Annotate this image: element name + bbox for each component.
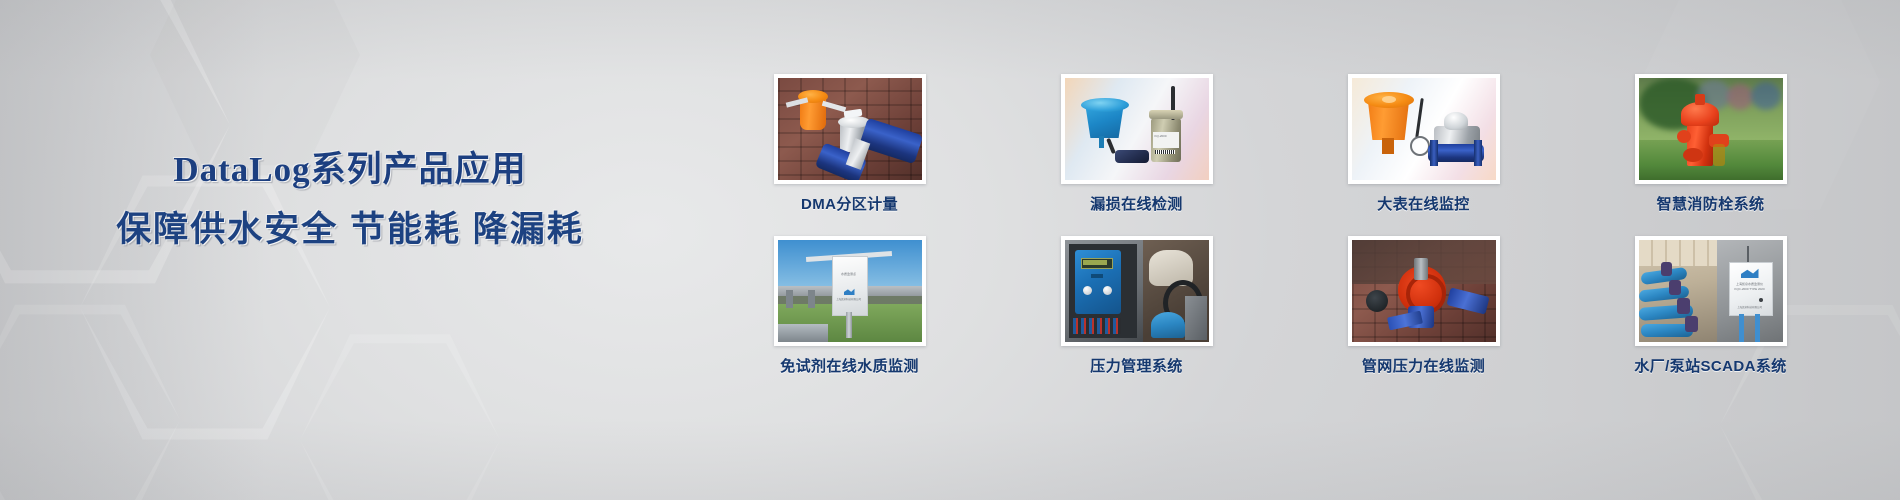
product-card-smart-hydrant[interactable]: 智慧消防栓系统 xyxy=(1567,74,1854,214)
product-card-frame: 水质监测点 上海凯泉科技有限公司 xyxy=(774,236,926,346)
headline-line-1: DataLog系列产品应用 xyxy=(0,148,700,192)
product-caption: DMA分区计量 xyxy=(801,193,898,214)
product-card-dma-metering[interactable]: DMA分区计量 xyxy=(706,74,993,214)
smart-hydrant-photo xyxy=(1639,78,1783,180)
hexagon-icon xyxy=(150,0,360,170)
product-card-frame xyxy=(1061,236,1213,346)
product-caption: 大表在线监控 xyxy=(1377,193,1469,214)
water-quality-monitor-photo: 水质监测点 上海凯泉科技有限公司 xyxy=(778,240,922,342)
pressure-management-photo xyxy=(1065,240,1209,342)
headline-block: DataLog系列产品应用 保障供水安全 节能耗 降漏耗 xyxy=(0,148,700,252)
hexagon-icon xyxy=(0,300,180,500)
hexagon-icon xyxy=(300,330,500,500)
sign-company: 上海凯泉科技有限公司 xyxy=(834,298,864,302)
scada-system-photo: 上海凯泉水质监测仪 KQC-2000 TYPE 2020 上海凯泉科技有限公司 xyxy=(1639,240,1783,342)
scada-box-company: 上海凯泉科技有限公司 xyxy=(1731,306,1769,310)
product-caption: 免试剂在线水质监测 xyxy=(780,355,919,376)
product-caption: 智慧消防栓系统 xyxy=(1657,193,1765,214)
product-caption: 管网压力在线监测 xyxy=(1362,355,1485,376)
scada-box-label-2: KQC-2000 TYPE 2020 xyxy=(1731,287,1769,291)
leak-detection-photo: KQ-2000 xyxy=(1065,78,1209,180)
product-caption: 水厂/泵站SCADA系统 xyxy=(1634,355,1786,376)
product-card-frame: KQ-2000 xyxy=(1061,74,1213,184)
product-card-frame xyxy=(1348,236,1500,346)
sign-title: 水质监测点 xyxy=(836,272,862,276)
scada-box-label-1: 上海凯泉水质监测仪 xyxy=(1731,282,1769,286)
product-card-pressure-management[interactable]: 压力管理系统 xyxy=(993,236,1280,376)
dma-metering-photo xyxy=(778,78,922,180)
product-card-frame xyxy=(774,74,926,184)
large-meter-monitoring-photo xyxy=(1352,78,1496,180)
product-card-frame xyxy=(1348,74,1500,184)
product-caption: 漏损在线检测 xyxy=(1090,193,1182,214)
product-card-frame xyxy=(1635,74,1787,184)
product-card-leak-detection[interactable]: KQ-2000 漏损在线检测 xyxy=(993,74,1280,214)
product-card-frame: 上海凯泉水质监测仪 KQC-2000 TYPE 2020 上海凯泉科技有限公司 xyxy=(1635,236,1787,346)
product-card-scada-system[interactable]: 上海凯泉水质监测仪 KQC-2000 TYPE 2020 上海凯泉科技有限公司 … xyxy=(1567,236,1854,376)
product-card-pipe-pressure-monitoring[interactable]: 管网压力在线监测 xyxy=(1280,236,1567,376)
headline-line-2: 保障供水安全 节能耗 降漏耗 xyxy=(0,208,700,252)
banner-root: DataLog系列产品应用 保障供水安全 节能耗 降漏耗 xyxy=(0,0,1900,500)
product-caption: 压力管理系统 xyxy=(1090,355,1182,376)
pipe-pressure-monitoring-photo xyxy=(1352,240,1496,342)
product-grid: DMA分区计量 KQ-2000 漏损在线检测 xyxy=(706,74,1854,376)
product-card-large-meter-monitoring[interactable]: 大表在线监控 xyxy=(1280,74,1567,214)
product-card-water-quality-monitor[interactable]: 水质监测点 上海凯泉科技有限公司 免试剂在线水质监测 xyxy=(706,236,993,376)
